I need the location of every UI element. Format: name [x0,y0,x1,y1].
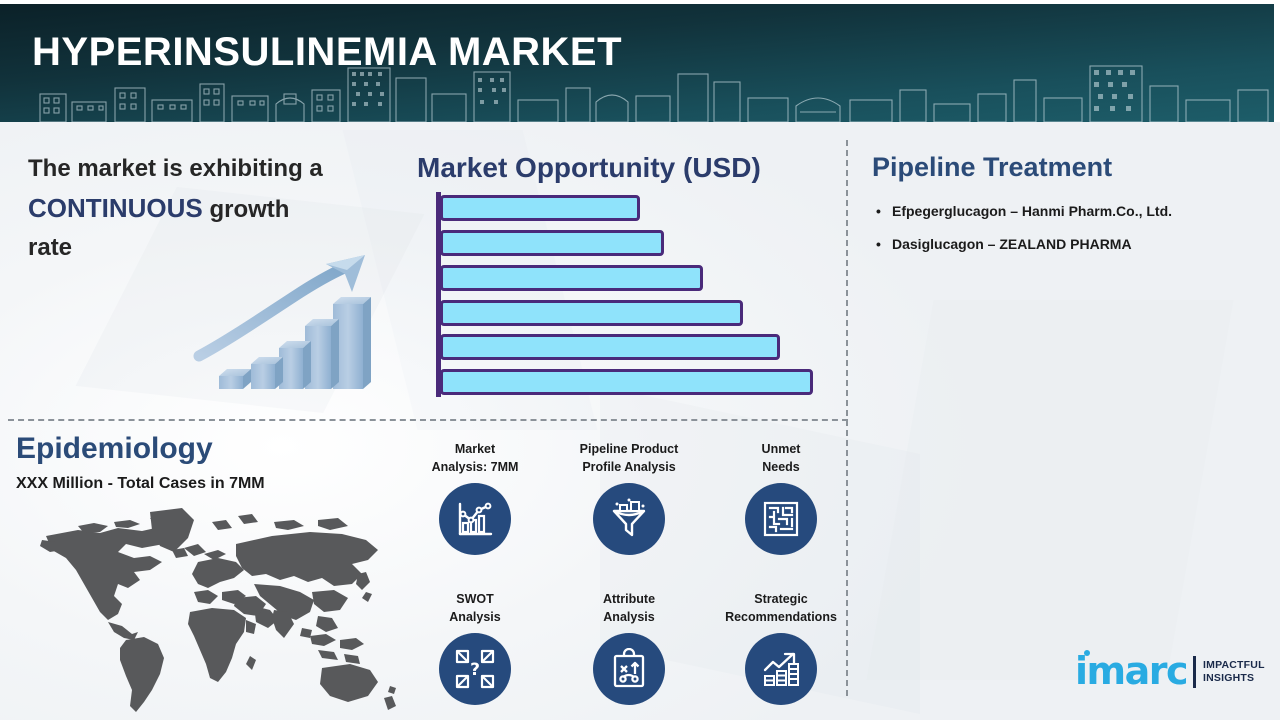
intro-highlight: CONTINUOUS [28,193,203,223]
pipeline-item-label: Efpegerglucagon – Hanmi Pharm.Co., Ltd. [892,203,1172,219]
tile-label-line1: Unmet [706,441,856,459]
pipeline-item: •Dasiglucagon – ZEALAND PHARMA [876,236,1132,252]
tile-attribute-analysis[interactable]: Attribute Analysis [554,591,704,705]
tile-market-analysis[interactable]: Market Analysis: 7MM [400,441,550,555]
intro-line-3: rate [28,234,72,261]
chart-bar [440,300,743,326]
page-title: HYPERINSULINEMIA MARKET [32,30,622,75]
clipboard-strategy-icon [593,633,665,705]
intro-statement: The market is exhibiting a CONTINUOUS gr… [28,150,388,267]
tile-pipeline-product-profile[interactable]: Pipeline Product Profile Analysis [554,441,704,555]
epidemiology-subtitle: XXX Million - Total Cases in 7MM [16,475,265,493]
logo-divider [1193,656,1196,688]
tile-label-line2: Recommendations [706,609,856,627]
growth-arrow-bar-chart-icon [193,252,393,404]
chart-axis [436,192,441,397]
epidemiology-title: Epidemiology [16,432,213,466]
tile-label-line2: Analysis [554,609,704,627]
intro-line-1: The market is exhibiting a [28,155,323,182]
horizontal-divider [8,419,848,421]
chart-bar [440,369,813,395]
header-banner: HYPERINSULINEMIA MARKET [0,0,1280,122]
world-map-icon [22,500,422,718]
market-opportunity-bar-chart [436,192,836,397]
tile-label-line1: Strategic [706,591,856,609]
tile-strategic-recommendations[interactable]: Strategic Recommendations [706,591,856,705]
tile-label-line2: Analysis: 7MM [400,459,550,477]
logo-tagline-line1: IMPACTFUL [1203,659,1265,671]
slide-root: HYPERINSULINEMIA MARKET The market is ex… [0,0,1280,720]
growth-arrow-bars-icon [745,633,817,705]
chart-bar [440,334,780,360]
tile-label-line1: Market [400,441,550,459]
logo-wordmark: imarc [1075,652,1187,690]
tile-swot-analysis[interactable]: SWOT Analysis ? [400,591,550,705]
funnel-icon [593,483,665,555]
tile-label-line1: Pipeline Product [554,441,704,459]
bullet-icon: • [876,236,892,252]
tile-label-line2: Analysis [400,609,550,627]
intro-line-2-rest: growth [203,196,290,223]
chart-title: Market Opportunity (USD) [417,152,761,184]
tile-label-line2: Profile Analysis [554,459,704,477]
tile-label-line2: Needs [706,459,856,477]
tile-label-line1: Attribute [554,591,704,609]
swot-arrows-question-icon: ? [439,633,511,705]
logo-tagline: IMPACTFUL INSIGHTS [1203,659,1265,685]
bullet-icon: • [876,203,892,219]
pipeline-item: •Efpegerglucagon – Hanmi Pharm.Co., Ltd. [876,203,1172,219]
chart-bar [440,230,664,256]
svg-text:?: ? [470,660,480,680]
imarc-logo: imarc IMPACTFUL INSIGHTS [1075,650,1260,696]
pipeline-title: Pipeline Treatment [872,152,1112,183]
bar-chart-line-icon [439,483,511,555]
tile-unmet-needs[interactable]: Unmet Needs [706,441,856,555]
pipeline-item-label: Dasiglucagon – ZEALAND PHARMA [892,236,1132,252]
maze-icon [745,483,817,555]
bg-facet [866,300,1233,680]
logo-tagline-line2: INSIGHTS [1203,672,1254,684]
chart-bar [440,195,640,221]
chart-bar [440,265,703,291]
tile-label-line1: SWOT [400,591,550,609]
